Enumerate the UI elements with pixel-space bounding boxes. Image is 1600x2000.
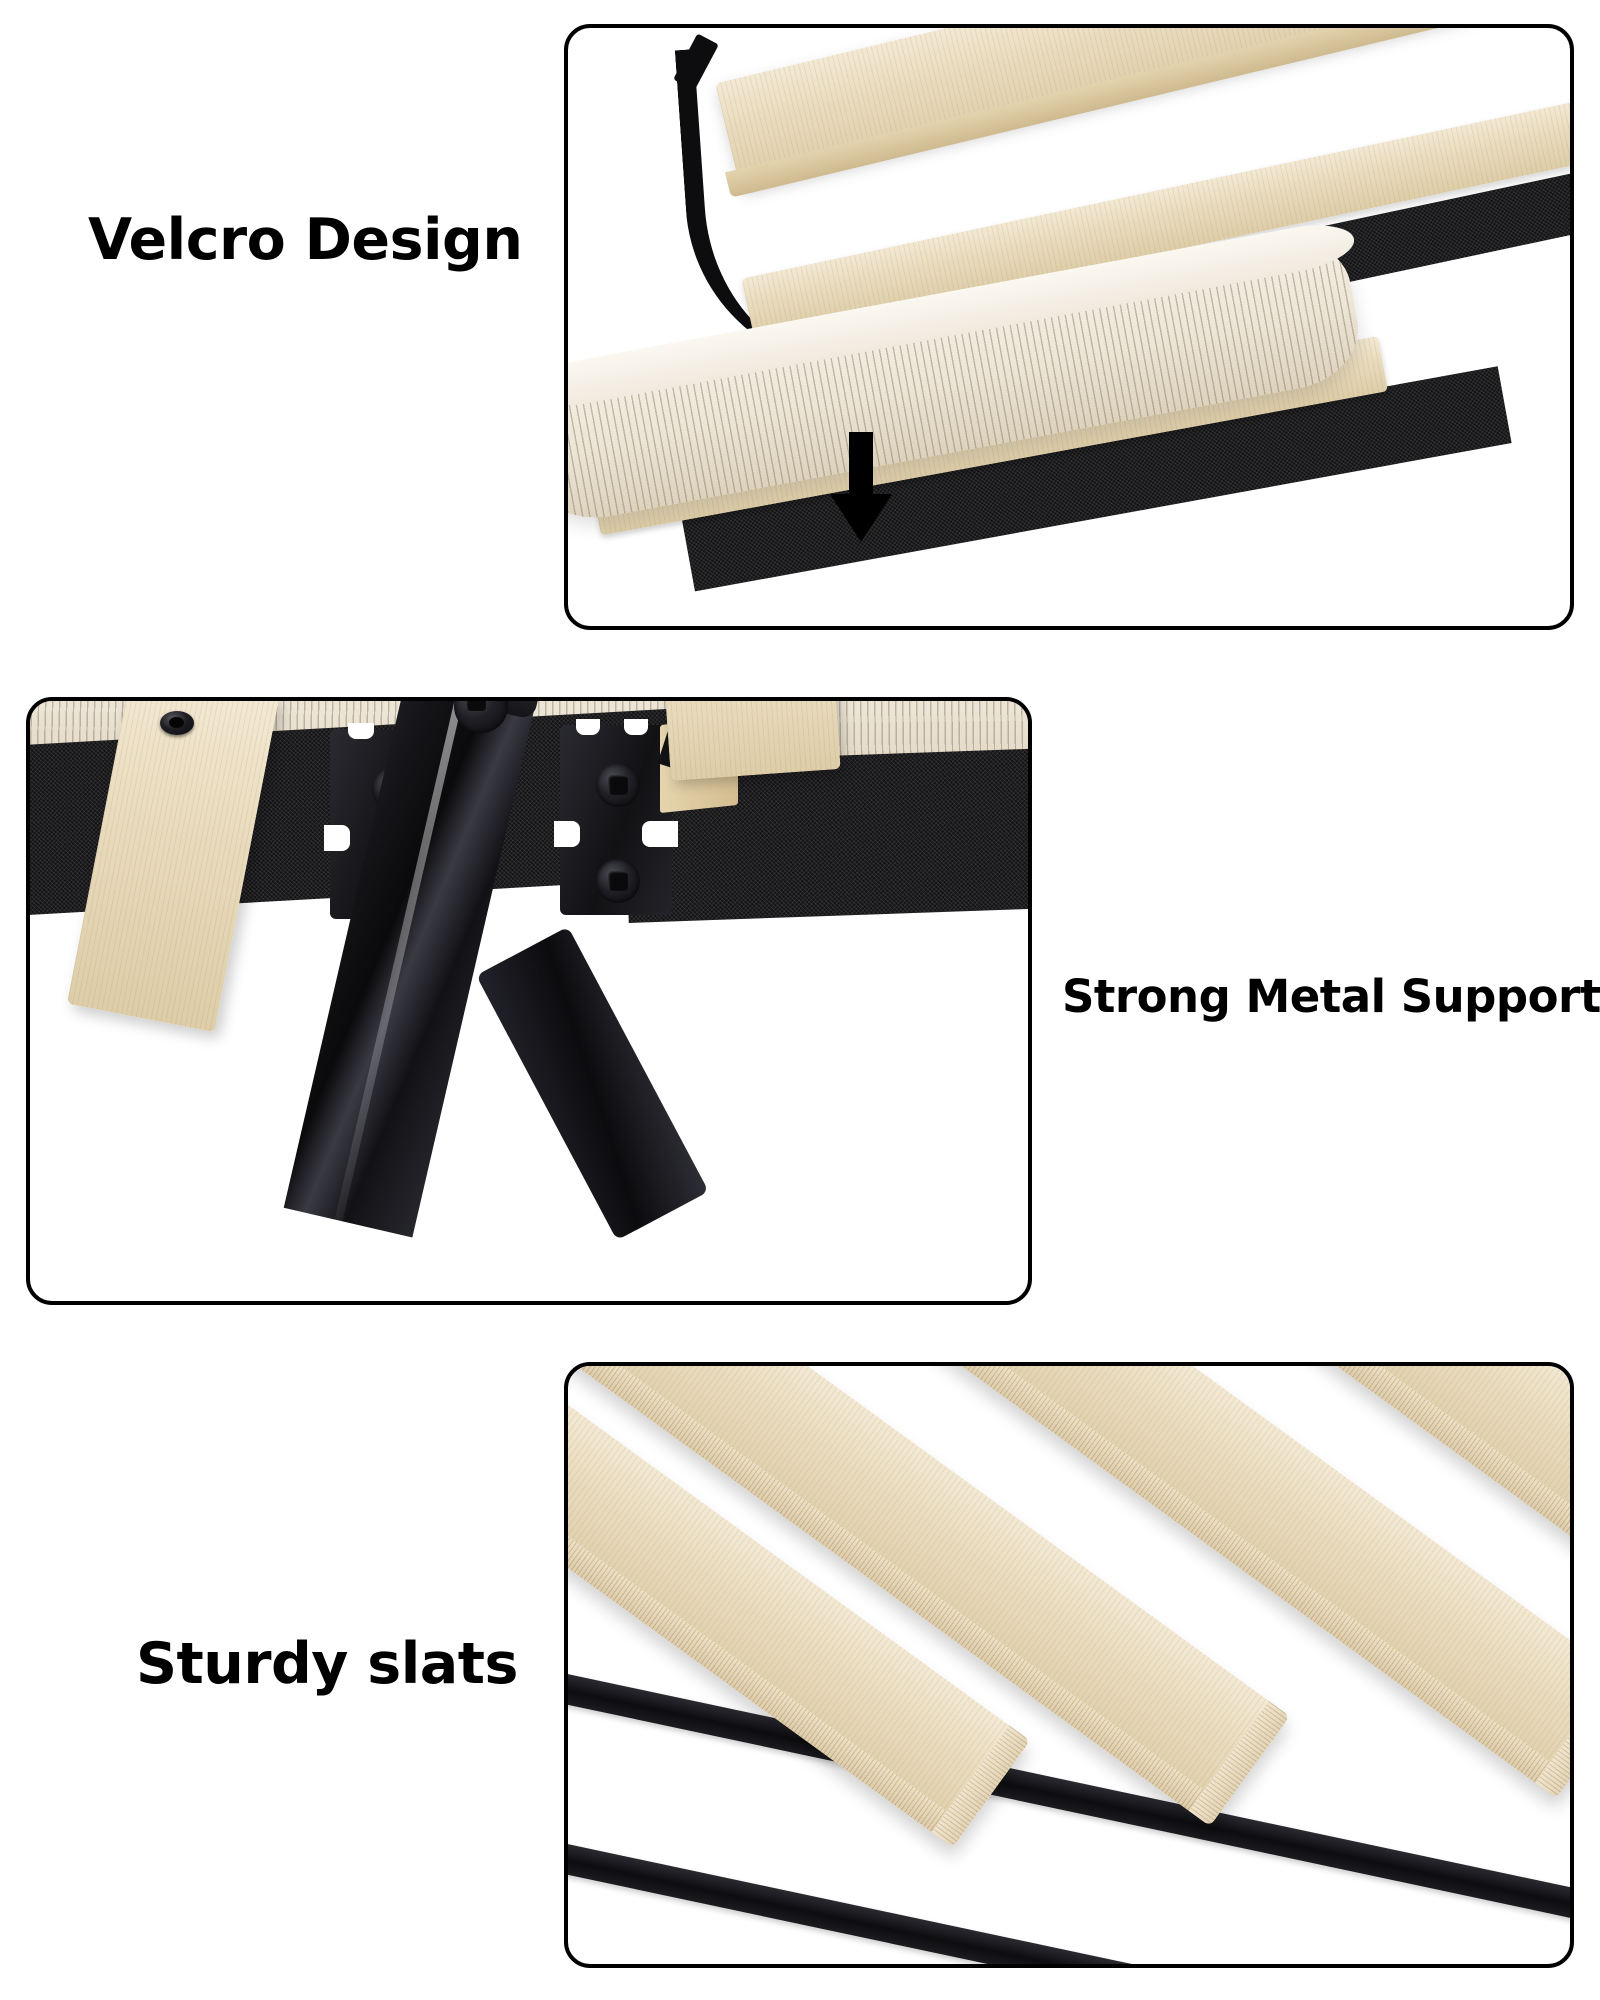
down-arrow-icon [830,432,892,542]
feature-caption-velcro: Velcro Design [88,212,522,269]
sturdy-slats-panel [564,1362,1574,1968]
strong-metal-support-panel [26,697,1032,1305]
slat-bolt-left [160,711,194,735]
velcro-design-photo [568,28,1570,626]
bracket-screw-right-bottom [596,859,640,903]
wood-slat-right [661,697,840,781]
metal-support-photo [30,701,1028,1301]
feature-caption-sturdy-slats: Sturdy slats [136,1636,518,1693]
sturdy-slats-photo [568,1366,1570,1964]
feature-caption-metal-support: Strong Metal Support [1062,974,1600,1019]
infographic-canvas: Velcro Design Strong Metal Support [0,0,1600,2000]
metal-support-leg-rear [476,927,709,1241]
velcro-design-panel [564,24,1574,630]
bracket-screw-right-top [596,763,640,807]
